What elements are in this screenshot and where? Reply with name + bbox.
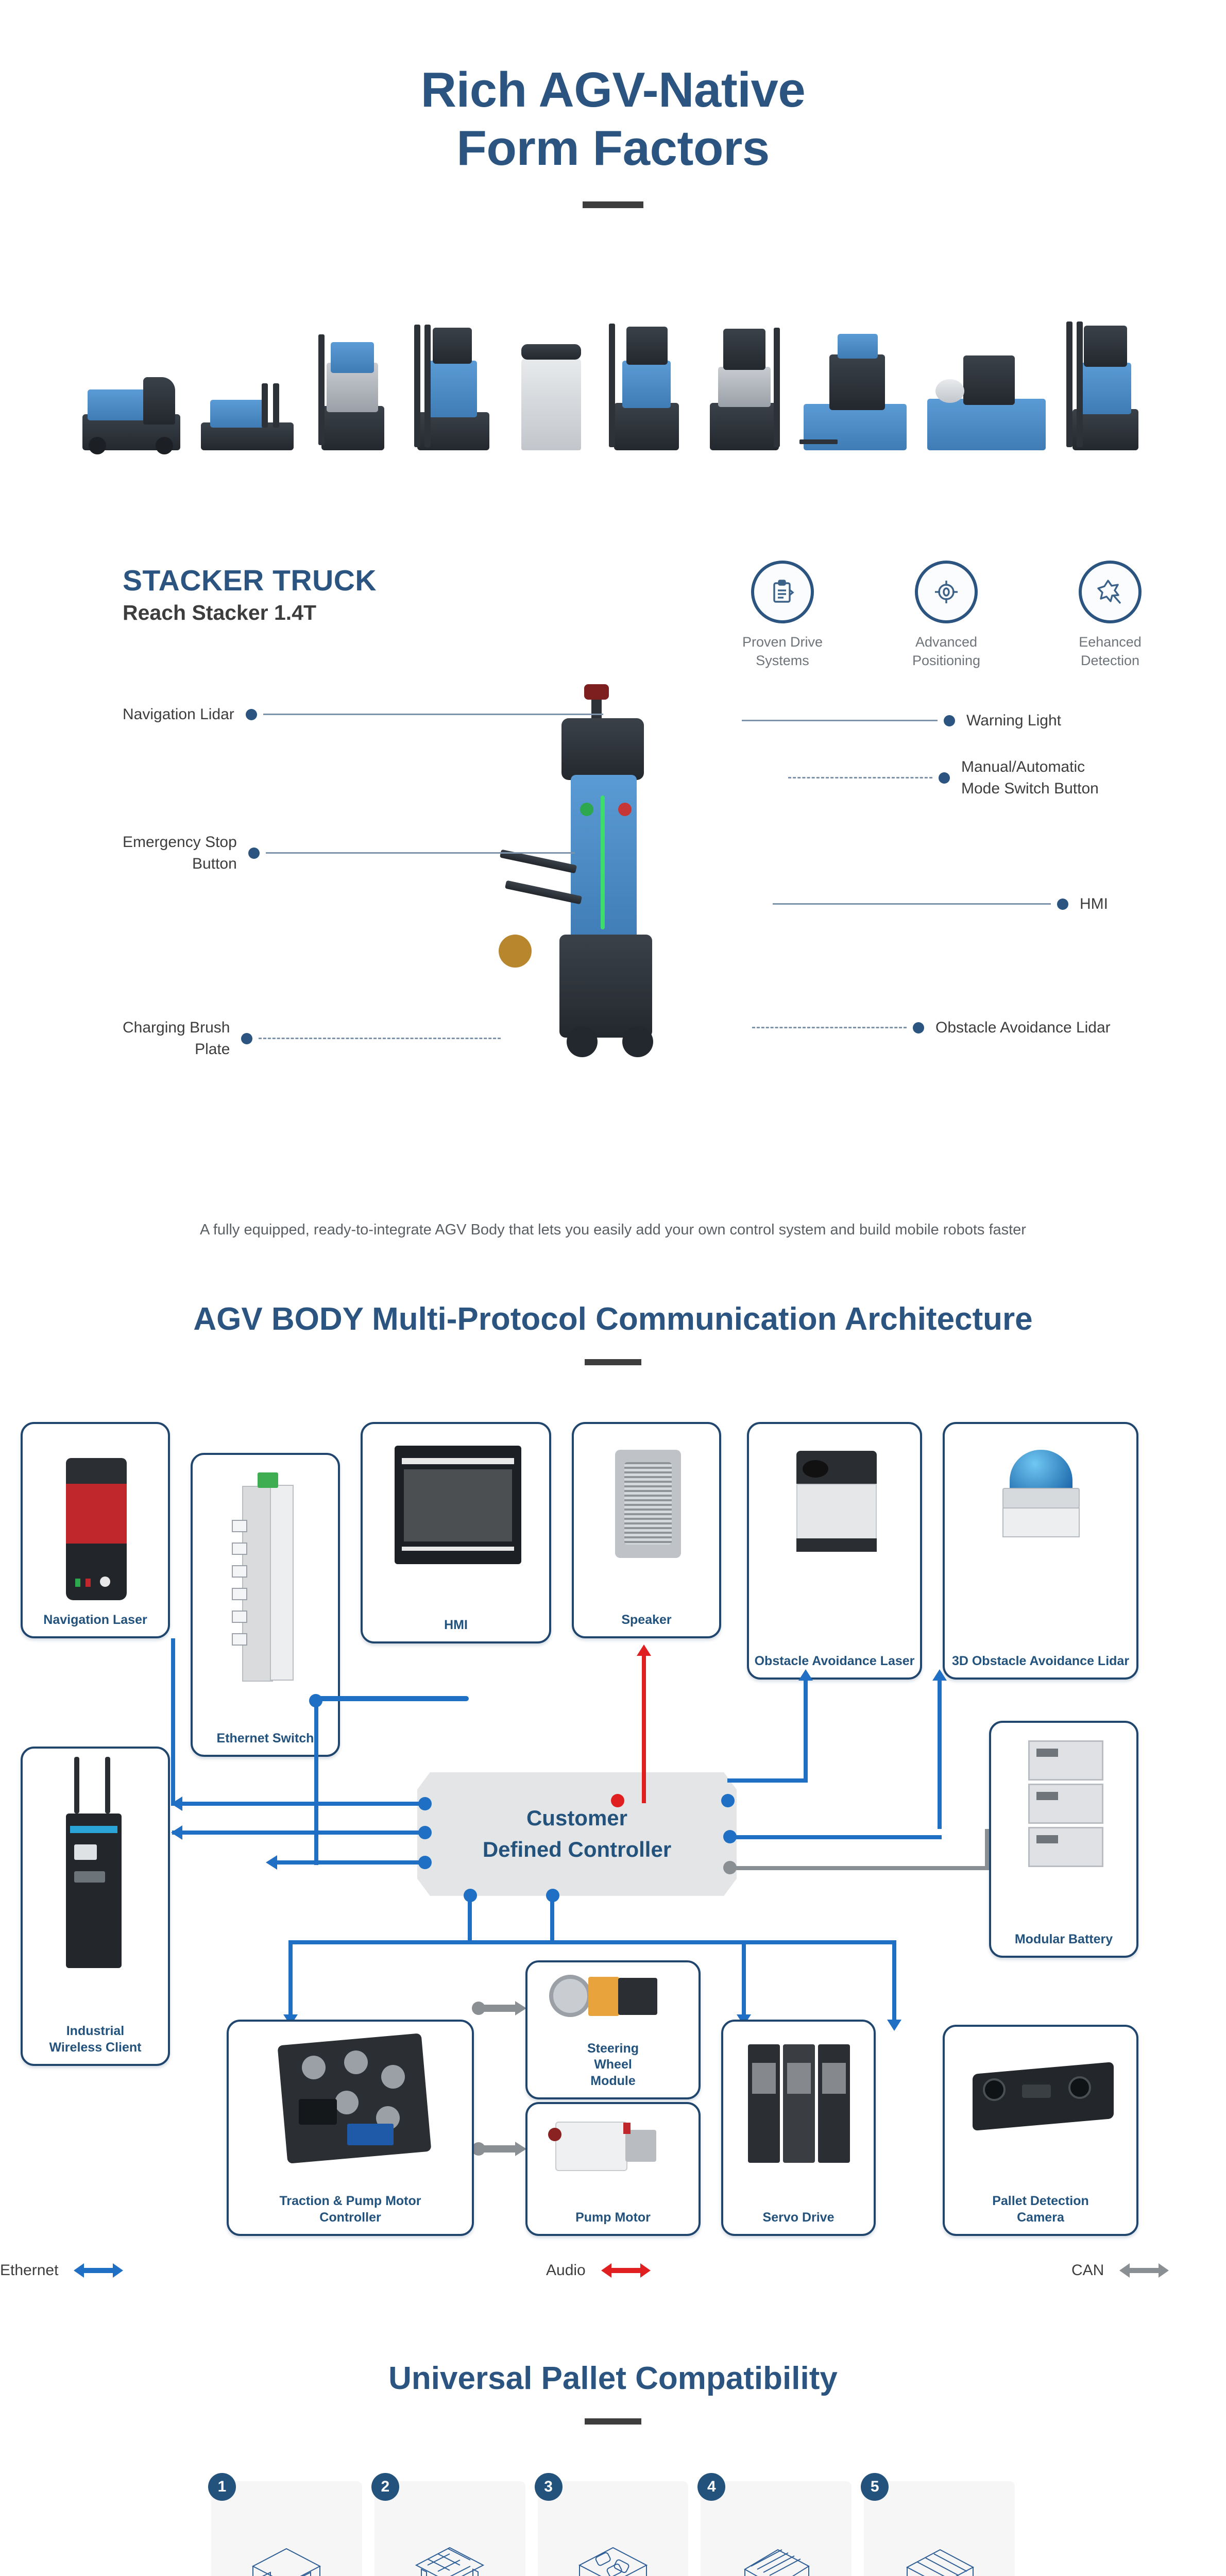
callout-dot — [1057, 899, 1068, 910]
feature-label-line2: Systems — [734, 651, 831, 670]
nine-leg-pallet-icon — [374, 2481, 525, 2576]
callout-label-line2: Plate — [123, 1039, 230, 1060]
callout-leader-line — [752, 1027, 907, 1028]
pallet-number-badge: 3 — [535, 2473, 563, 2501]
arrow-to-pump-motor — [515, 2142, 526, 2156]
controller-port-audio — [611, 1794, 624, 1807]
node-label: Obstacle Avoidance Laser — [751, 1653, 919, 1677]
callout-leader-line — [259, 1038, 501, 1039]
hero-divider — [583, 201, 643, 208]
pallet-divider — [585, 2418, 641, 2425]
pallet-card[interactable]: 4 GMA Solid Deck Pallet — [701, 2481, 852, 2576]
architecture-section: AGV BODY Multi-Protocol Communication Ar… — [0, 1300, 1226, 2298]
crosshair-target-icon — [915, 561, 978, 623]
feature-label-line1: Advanced — [897, 633, 995, 651]
callout-leader-line — [263, 714, 603, 715]
agv-model-stacker-dark — [1066, 321, 1144, 450]
wireless-client-image — [23, 1749, 168, 2024]
hero-section: Rich AGV-Native Form Factors — [0, 0, 1226, 208]
wire-3d-lidar-riser — [938, 1680, 942, 1829]
controller-port-can-1 — [723, 1861, 737, 1874]
stacker-subtitle: Reach Stacker 1.4T — [123, 601, 377, 625]
stacker-heading: STACKER TRUCK Reach Stacker 1.4T — [123, 564, 377, 625]
node-label: IndustrialWireless Client — [45, 2023, 145, 2064]
feature-label: Proven Drive Systems — [734, 633, 831, 670]
wire-ethernet-switch-riser — [314, 1757, 318, 1865]
pallet-heading: Universal Pallet Compatibility — [0, 2360, 1226, 2425]
node-label: Speaker — [617, 1612, 675, 1636]
speaker-image — [574, 1424, 719, 1612]
callout-dot — [248, 848, 260, 859]
node-navigation-laser[interactable]: Navigation Laser — [21, 1422, 170, 1638]
node-hmi[interactable]: HMI — [361, 1422, 551, 1643]
feature-icon-row: Proven Drive Systems Advanced Positionin… — [734, 561, 1159, 670]
arrow-to-oa-laser — [798, 1669, 813, 1681]
wire-ethernet-switch-feed — [276, 1860, 317, 1865]
legend-label: CAN — [1071, 2262, 1104, 2279]
feature-label-line2: Detection — [1061, 651, 1159, 670]
legend-arrow-ethernet — [74, 2265, 123, 2276]
node-label: HMI — [440, 1617, 472, 1641]
agv-model-pallet-truck — [201, 383, 294, 450]
callout-charging-brush-plate: Charging Brush Plate — [123, 1017, 501, 1060]
legend-label: Audio — [546, 2262, 586, 2279]
arrow-to-ethernet-switch — [266, 1855, 277, 1870]
network-switch-image — [193, 1455, 338, 1731]
safety-laser-image — [749, 1424, 920, 1653]
node-servo-drive[interactable]: Servo Drive — [721, 2020, 876, 2236]
callout-label: Warning Light — [966, 710, 1061, 732]
stacker-tagline: A fully equipped, ready-to-integrate AGV… — [0, 1222, 1226, 1239]
beacon-light-image — [23, 1424, 168, 1612]
architecture-heading: AGV BODY Multi-Protocol Communication Ar… — [0, 1300, 1226, 1365]
legend-can: CAN — [1071, 2262, 1169, 2279]
wire-nav-laser-riser — [171, 1638, 175, 1803]
pallet-grid-row-1: 1 Double-DeckPallet 2 — [211, 2481, 1015, 2576]
clipboard-drive-icon — [751, 561, 814, 623]
pallet-number-badge: 1 — [208, 2473, 236, 2501]
wire-3d-lidar-to-controller — [736, 1835, 942, 1839]
hero-title-line2: Form Factors — [0, 119, 1226, 177]
architecture-title: AGV BODY Multi-Protocol Communication Ar… — [0, 1300, 1226, 1338]
feature-enhanced-detection: Eehanced Detection — [1061, 561, 1159, 670]
pallet-compatibility-section: Universal Pallet Compatibility 1 Double-… — [0, 2360, 1226, 2576]
wire-speaker-audio — [642, 1654, 646, 1803]
agv-model-stacker-light — [515, 342, 587, 450]
wire-hmi-bottom — [314, 1696, 469, 1701]
arrow-to-speaker — [637, 1645, 651, 1656]
infographic-page: Rich AGV-Native Form Factors — [0, 0, 1226, 2576]
arrow-to-steering-wheel — [515, 2001, 526, 2015]
node-label: Ethernet Switch — [213, 1731, 318, 1755]
protocol-legend: Ethernet Audio CAN — [0, 2262, 1226, 2298]
legend-arrow-audio — [601, 2265, 651, 2276]
feature-label-line1: Eehanced — [1061, 633, 1159, 651]
battery-stack-image — [991, 1723, 1136, 1931]
node-label: Servo Drive — [759, 2210, 839, 2234]
motor-controller-image — [229, 2022, 472, 2194]
callout-label: Charging Brush Plate — [123, 1017, 230, 1060]
gma-solid-deck-pallet-icon — [701, 2481, 852, 2576]
feature-label: Advanced Positioning — [897, 633, 995, 670]
wire-nav-laser-to-controller — [171, 1802, 420, 1806]
controller-label-line1: Customer — [483, 1803, 671, 1834]
wire-battery-riser — [985, 1829, 989, 1870]
callout-leader-line — [742, 720, 938, 721]
node-label: Traction & Pump MotorController — [276, 2193, 425, 2234]
feature-advanced-positioning: Advanced Positioning — [897, 561, 995, 670]
wire-oa-laser-riser — [804, 1680, 808, 1783]
callout-navigation-lidar: Navigation Lidar — [123, 704, 603, 725]
stacker-truck-section: STACKER TRUCK Reach Stacker 1.4T Proven … — [0, 538, 1226, 1259]
stacker-title: STACKER TRUCK — [123, 564, 377, 598]
architecture-diagram: Navigation Laser Ethernet Switch — [0, 1412, 1226, 2298]
callout-label: Navigation Lidar — [123, 704, 234, 725]
wire-junction-hmi — [309, 1694, 322, 1707]
wire-battery-can — [736, 1866, 989, 1870]
callout-leader-line — [266, 852, 575, 854]
steering-wheel-image — [527, 1962, 699, 2041]
hero-title: Rich AGV-Native Form Factors — [0, 61, 1226, 178]
wire-camera-drop — [892, 1940, 896, 2023]
pump-motor-image — [527, 2104, 699, 2210]
pallet-title: Universal Pallet Compatibility — [0, 2360, 1226, 2398]
lidar-3d-image — [945, 1424, 1136, 1653]
stacker-truck-illustration — [531, 692, 747, 1156]
wire-ethernet-switch-to-controller — [314, 1860, 422, 1865]
hmi-panel-image — [363, 1424, 549, 1617]
agv-model-double-pallet — [804, 332, 907, 450]
wire-bottom-bus — [288, 1940, 896, 1944]
callout-dot — [241, 1033, 252, 1044]
callout-label: Manual/Automatic Mode Switch Button — [961, 756, 1099, 800]
wire-oa-laser-to-controller — [727, 1778, 808, 1783]
customer-defined-controller[interactable]: Customer Defined Controller — [417, 1772, 737, 1896]
callout-dot — [913, 1022, 924, 1033]
controller-label: Customer Defined Controller — [483, 1803, 671, 1866]
magic-star-wand-icon — [1079, 561, 1142, 623]
pallet-number-badge: 2 — [371, 2473, 399, 2501]
agv-family-strip — [52, 275, 1174, 450]
node-3d-obstacle-avoidance-lidar[interactable]: 3D Obstacle Avoidance Lidar — [943, 1422, 1138, 1680]
double-deck-pallet-icon — [211, 2481, 362, 2576]
legend-arrow-can — [1119, 2265, 1169, 2276]
arrow-to-wireless-client — [171, 1825, 182, 1840]
callout-leader-line — [788, 777, 932, 778]
feature-label-line2: Positioning — [897, 651, 995, 670]
callout-dot — [939, 772, 950, 784]
epal-euro-pallet-2-icon — [864, 2481, 1015, 2576]
feature-label: Eehanced Detection — [1061, 633, 1159, 670]
node-pallet-detection-camera[interactable]: Pallet DetectionCamera — [943, 2025, 1138, 2236]
agv-model-counterbalance — [314, 332, 391, 450]
wire-traction-drop — [288, 1940, 293, 2018]
node-steering-wheel-module[interactable]: SteeringWheelModule — [525, 1960, 701, 2099]
callout-label-line1: Charging Brush — [123, 1017, 230, 1039]
callout-label: HMI — [1080, 893, 1108, 915]
node-label: Modular Battery — [1011, 1931, 1117, 1956]
servo-drive-image — [723, 2022, 874, 2210]
controller-port-eth-5 — [723, 1830, 737, 1843]
callout-label-line2: Mode Switch Button — [961, 778, 1099, 800]
pallet-card[interactable]: 2 Nine-Leg Pallet — [374, 2481, 525, 2576]
wire-wireless-client-to-controller — [172, 1831, 420, 1835]
arrow-to-pallet-camera — [887, 2020, 901, 2031]
node-obstacle-avoidance-laser[interactable]: Obstacle Avoidance Laser — [747, 1422, 922, 1680]
callout-label: Emergency Stop Button — [123, 832, 237, 875]
node-label: SteeringWheelModule — [583, 2041, 643, 2097]
callout-leader-line — [773, 903, 1051, 905]
node-label: Pump Motor — [571, 2210, 655, 2234]
node-label: Navigation Laser — [39, 1612, 151, 1636]
wire-can-steering — [480, 2005, 516, 2012]
agv-model-carrier — [927, 347, 1046, 450]
legend-ethernet: Ethernet — [0, 2262, 123, 2279]
controller-port-eth-4 — [721, 1794, 735, 1807]
callout-label-line2: Button — [123, 853, 237, 875]
node-label: Pallet DetectionCamera — [988, 2193, 1093, 2234]
wire-controller-down-1 — [550, 1896, 554, 1942]
feature-label-line1: Proven Drive — [734, 633, 831, 651]
agv-model-reach-truck — [412, 321, 495, 450]
wire-controller-down-2 — [468, 1896, 472, 1942]
hero-title-line1: Rich AGV-Native — [0, 61, 1226, 119]
pallet-card[interactable]: 3 Full-Perimeter Pallet — [538, 2481, 689, 2576]
callout-dot — [246, 709, 257, 720]
callout-emergency-stop-button: Emergency Stop Button — [123, 832, 575, 875]
node-pump-motor[interactable]: Pump Motor — [525, 2102, 701, 2236]
controller-label-line2: Defined Controller — [483, 1834, 671, 1866]
arrow-to-3d-lidar — [932, 1669, 947, 1681]
feature-proven-drive-systems: Proven Drive Systems — [734, 561, 831, 670]
node-label: 3D Obstacle Avoidance Lidar — [948, 1653, 1133, 1677]
callout-label-line1: Emergency Stop — [123, 832, 237, 853]
pallet-camera-image — [945, 2027, 1136, 2194]
callout-label: Obstacle Avoidance Lidar — [935, 1017, 1111, 1039]
agv-model-forklift — [706, 327, 783, 450]
callout-dot — [944, 715, 955, 726]
node-speaker[interactable]: Speaker — [572, 1422, 721, 1638]
wire-servo-drop — [742, 1940, 746, 2018]
callout-obstacle-avoidance-lidar: Obstacle Avoidance Lidar — [752, 1017, 1111, 1039]
node-modular-battery[interactable]: Modular Battery — [989, 1721, 1138, 1958]
agv-model-tugger — [82, 373, 180, 450]
callout-warning-light: Warning Light — [742, 710, 1061, 732]
callout-label-line1: Manual/Automatic — [961, 756, 1099, 778]
node-industrial-wireless-client[interactable]: IndustrialWireless Client — [21, 1747, 170, 2066]
node-traction-pump-motor-controller[interactable]: Traction & Pump MotorController — [227, 2020, 474, 2236]
architecture-divider — [585, 1359, 641, 1365]
pallet-card[interactable]: 5 EPAL Euro Pallet 2 — [864, 2481, 1015, 2576]
full-perimeter-pallet-icon — [538, 2481, 689, 2576]
agv-model-reach-dark — [608, 321, 685, 450]
wire-hmi-to-switch — [314, 1700, 318, 1762]
legend-audio: Audio — [546, 2262, 651, 2279]
legend-label: Ethernet — [0, 2262, 58, 2279]
pallet-card[interactable]: 1 Double-DeckPallet — [211, 2481, 362, 2576]
wire-can-pump — [480, 2145, 516, 2153]
callout-hmi: HMI — [773, 893, 1108, 915]
callout-mode-switch-button: Manual/Automatic Mode Switch Button — [788, 756, 1099, 800]
